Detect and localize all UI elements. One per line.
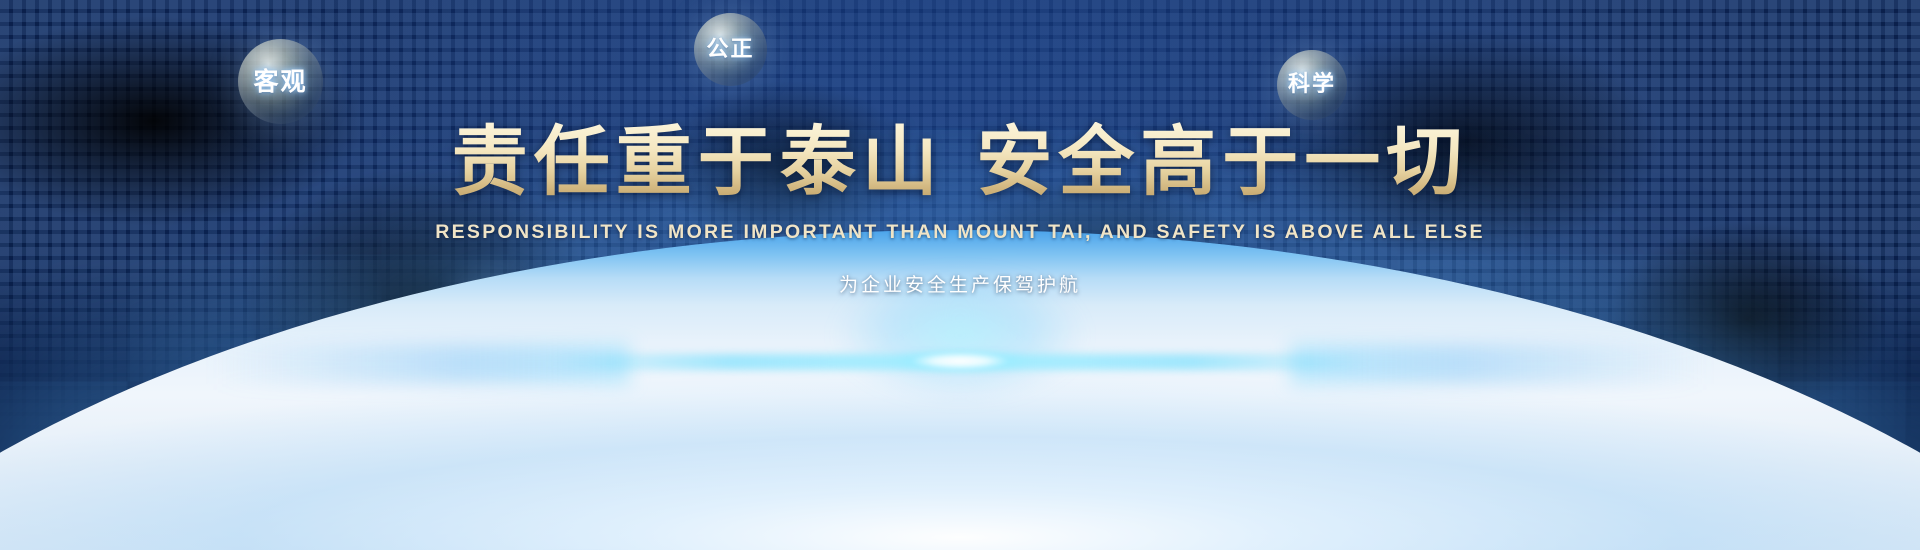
badge-kexue[interactable]: 科学 [1277, 50, 1347, 120]
banner-tagline-chinese: 为企业安全生产保驾护航 [0, 270, 1920, 297]
banner-text-block: 责任重于泰山 安全高于一切 RESPONSIBILITY IS MORE IMP… [0, 122, 1920, 297]
badge-keguan-label: 客观 [253, 69, 307, 94]
badge-gongzheng[interactable]: 公正 [694, 13, 767, 86]
lens-flare-core [885, 348, 1035, 374]
badge-gongzheng-label: 公正 [706, 39, 754, 61]
safety-slogan-banner: 客观 公正 科学 严谨 高效 责任重于泰山 安全高于一切 RESPONSIBIL… [0, 0, 1920, 550]
banner-title: 责任重于泰山 安全高于一切 [0, 122, 1920, 201]
badge-kexue-label: 科学 [1288, 74, 1336, 96]
badge-keguan[interactable]: 客观 [238, 39, 323, 124]
earth-horizon-scene [0, 290, 1920, 550]
banner-subtitle-english: RESPONSIBILITY IS MORE IMPORTANT THAN MO… [0, 221, 1920, 244]
